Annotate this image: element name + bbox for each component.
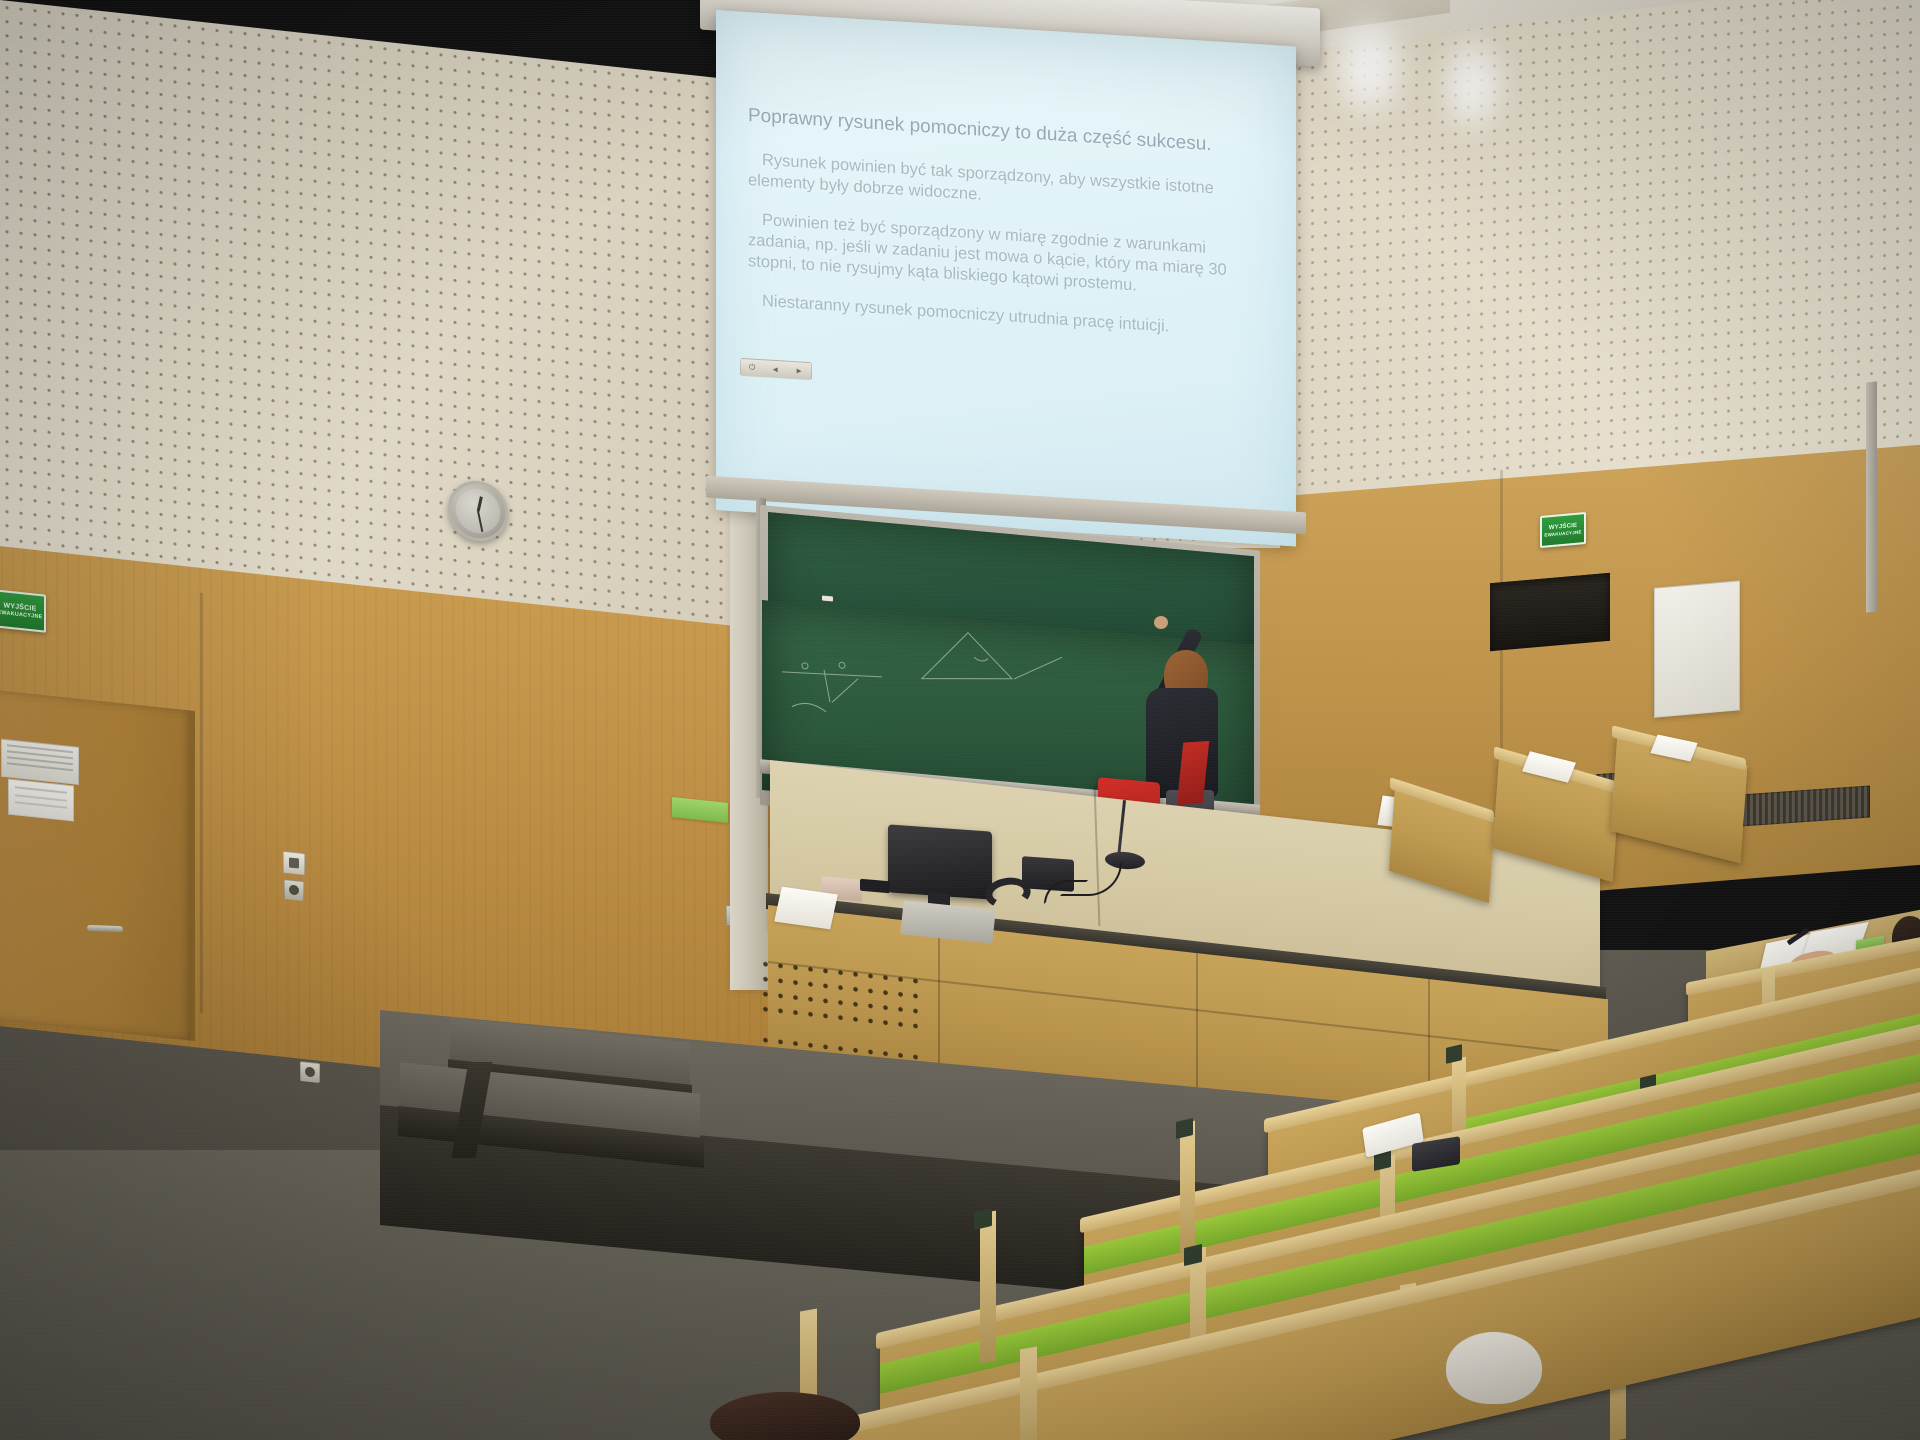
power-socket-upper[interactable] <box>284 879 304 901</box>
exit-sign-right: WYJŚCIE EWAKUACYJNE <box>1540 512 1586 548</box>
power-socket-lower[interactable] <box>300 1061 320 1083</box>
student-head-white-hair <box>1446 1332 1542 1404</box>
screen-right-icon[interactable]: ► <box>795 366 803 375</box>
desk-monitor[interactable] <box>888 824 992 899</box>
bench-divider-7a <box>980 1211 996 1364</box>
desk-papers-left[interactable] <box>774 887 838 930</box>
projection-screen: Poprawny rysunek pomocniczy to duża częś… <box>716 10 1296 546</box>
screen-power-icon[interactable]: ⏻ <box>749 362 755 372</box>
wall-recess-right <box>1490 573 1610 651</box>
electrical-service-panel[interactable] <box>1654 580 1740 718</box>
lecturer-hand <box>1154 616 1168 629</box>
wall-rail-right <box>1866 381 1877 612</box>
door-notice <box>1 739 79 785</box>
desk-black-object <box>860 879 890 894</box>
podium-perforated-panel-1 <box>758 956 928 1035</box>
wall-notice-left <box>8 779 74 822</box>
lecture-hall-photo: WYJŚCIE EWAKUACYJNE WYJŚCIE EWAKUACYJNE … <box>0 0 1920 1440</box>
slide-paragraph-1: Rysunek powinien być tak sporządzony, ab… <box>748 149 1262 223</box>
blackboard-chalk-piece <box>822 596 833 602</box>
wainscot-seam-left <box>200 593 203 1013</box>
bench-divider-8b <box>1020 1347 1037 1440</box>
bench-divider-6a <box>1180 1121 1195 1254</box>
slide-paragraph-2: Powinien też być sporządzony w miarę zgo… <box>748 209 1262 304</box>
ceiling-light-glow-2 <box>1440 34 1506 134</box>
slide-title: Poprawny rysunek pomocniczy to duża częś… <box>748 104 1262 160</box>
ceiling-light-glow-1 <box>1330 10 1408 120</box>
light-switch[interactable] <box>283 851 305 875</box>
slide-content: Poprawny rysunek pomocniczy to duża częś… <box>716 10 1296 546</box>
exit-sign-left: WYJŚCIE EWAKUACYJNE <box>0 589 46 632</box>
lecture-hall-door[interactable] <box>0 690 195 1041</box>
screen-left-icon[interactable]: ◄ <box>771 364 779 373</box>
door-handle-icon[interactable] <box>87 925 123 932</box>
